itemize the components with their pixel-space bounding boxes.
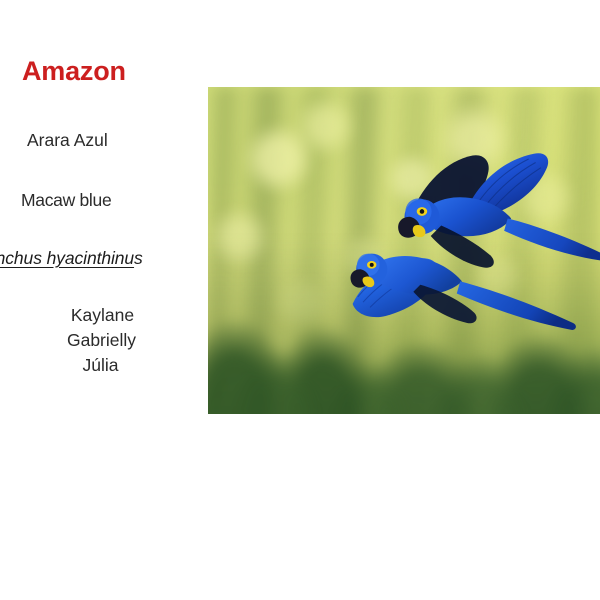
list-item: Júlia [0, 353, 205, 378]
list-item: Gabrielly [0, 328, 205, 353]
scientific-name: orhynchus hyacinthinus [0, 248, 143, 269]
list-item: Kaylane [0, 303, 205, 328]
author-list: Kaylane Gabrielly Júlia [0, 303, 205, 378]
macaw-photo [208, 87, 600, 414]
hyacinth-macaw-lower [337, 231, 580, 344]
page-title: Amazon [22, 56, 126, 87]
common-name-english: Macaw blue [21, 190, 111, 211]
scientific-name-trailing-letter: s [134, 248, 143, 268]
scientific-name-underlined-part: orhynchus hyacinthinu [0, 248, 134, 268]
presentation-slide: Amazon Arara Azul Macaw blue orhynchus h… [0, 0, 600, 600]
common-name-portuguese: Arara Azul [27, 130, 108, 151]
